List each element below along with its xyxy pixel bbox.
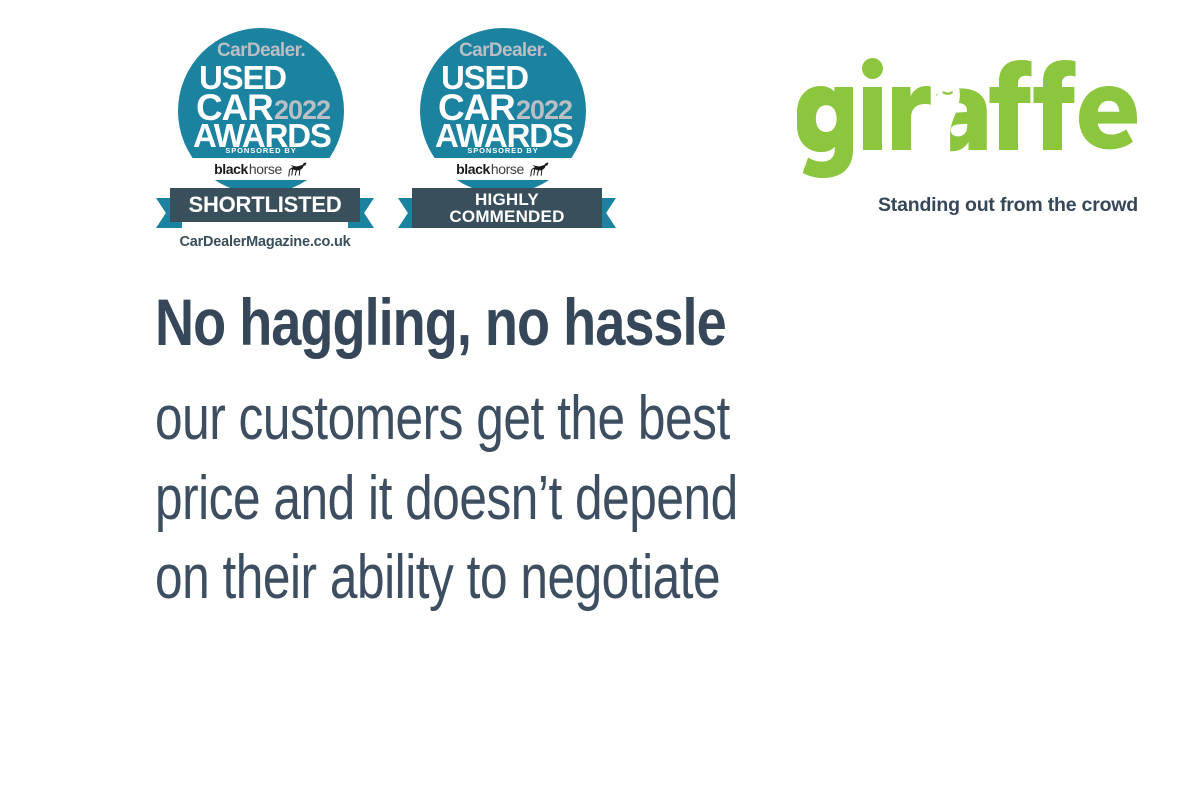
subcopy-line-2: price and it doesn’t depend [155, 459, 907, 538]
horse-icon [528, 162, 550, 177]
ribbon-award-text: HIGHLYCOMMENDED [449, 191, 564, 225]
subcopy: our customers get the best price and it … [155, 379, 907, 617]
subcopy-line-1: our customers get the best [155, 379, 907, 458]
badge-url-cardealermagazine: CarDealerMagazine.co.uk [160, 234, 370, 250]
ribbon-body: SHORTLISTED [170, 188, 360, 222]
badge-brand-cardealer: CarDealer. [420, 41, 586, 60]
sponsor-name-horse: horse [249, 161, 282, 177]
marketing-copy-block: No haggling, no hassle our customers get… [155, 288, 1095, 617]
giraffe-wordmark-icon [793, 52, 1138, 180]
badge-sponsored-by-label: SPONSORED BY [178, 146, 344, 155]
giraffe-logo: Standing out from the crowd [793, 52, 1138, 227]
horse-icon [286, 162, 308, 177]
badge-circle-shortlisted: CarDealer. USED CAR AWARDS 2022 SPONSORE… [178, 28, 344, 194]
sponsor-name-black: black [214, 161, 248, 177]
badge-brand-cardealer: CarDealer. [178, 41, 344, 60]
badge-year: 2022 [274, 99, 330, 122]
badge-ribbon-highly-commended: HIGHLYCOMMENDED [402, 188, 612, 234]
headline: No haggling, no hassle [155, 288, 926, 357]
badge-sponsor-blackhorse: black horse [191, 158, 331, 180]
badge-circle-commended: CarDealer. USED CAR AWARDS 2022 SPONSORE… [420, 28, 586, 194]
award-badge-highly-commended: CarDealer. USED CAR AWARDS 2022 SPONSORE… [402, 28, 612, 263]
sponsor-name-horse: horse [491, 161, 524, 177]
badge-sponsored-by-label: SPONSORED BY [420, 146, 586, 155]
badge-sponsor-blackhorse: black horse [433, 158, 573, 180]
ribbon-award-text: SHORTLISTED [188, 194, 341, 216]
subcopy-line-3: on their ability to negotiate [155, 538, 907, 617]
badge-year: 2022 [516, 99, 572, 122]
ribbon-body: HIGHLYCOMMENDED [412, 188, 602, 228]
ribbon-award-line2: COMMENDED [449, 207, 564, 226]
sponsor-name-black: black [456, 161, 490, 177]
badge-ribbon-shortlisted: SHORTLISTED [160, 188, 370, 234]
award-badge-shortlisted: CarDealer. USED CAR AWARDS 2022 SPONSORE… [160, 28, 370, 263]
giraffe-tagline: Standing out from the crowd [793, 194, 1138, 217]
